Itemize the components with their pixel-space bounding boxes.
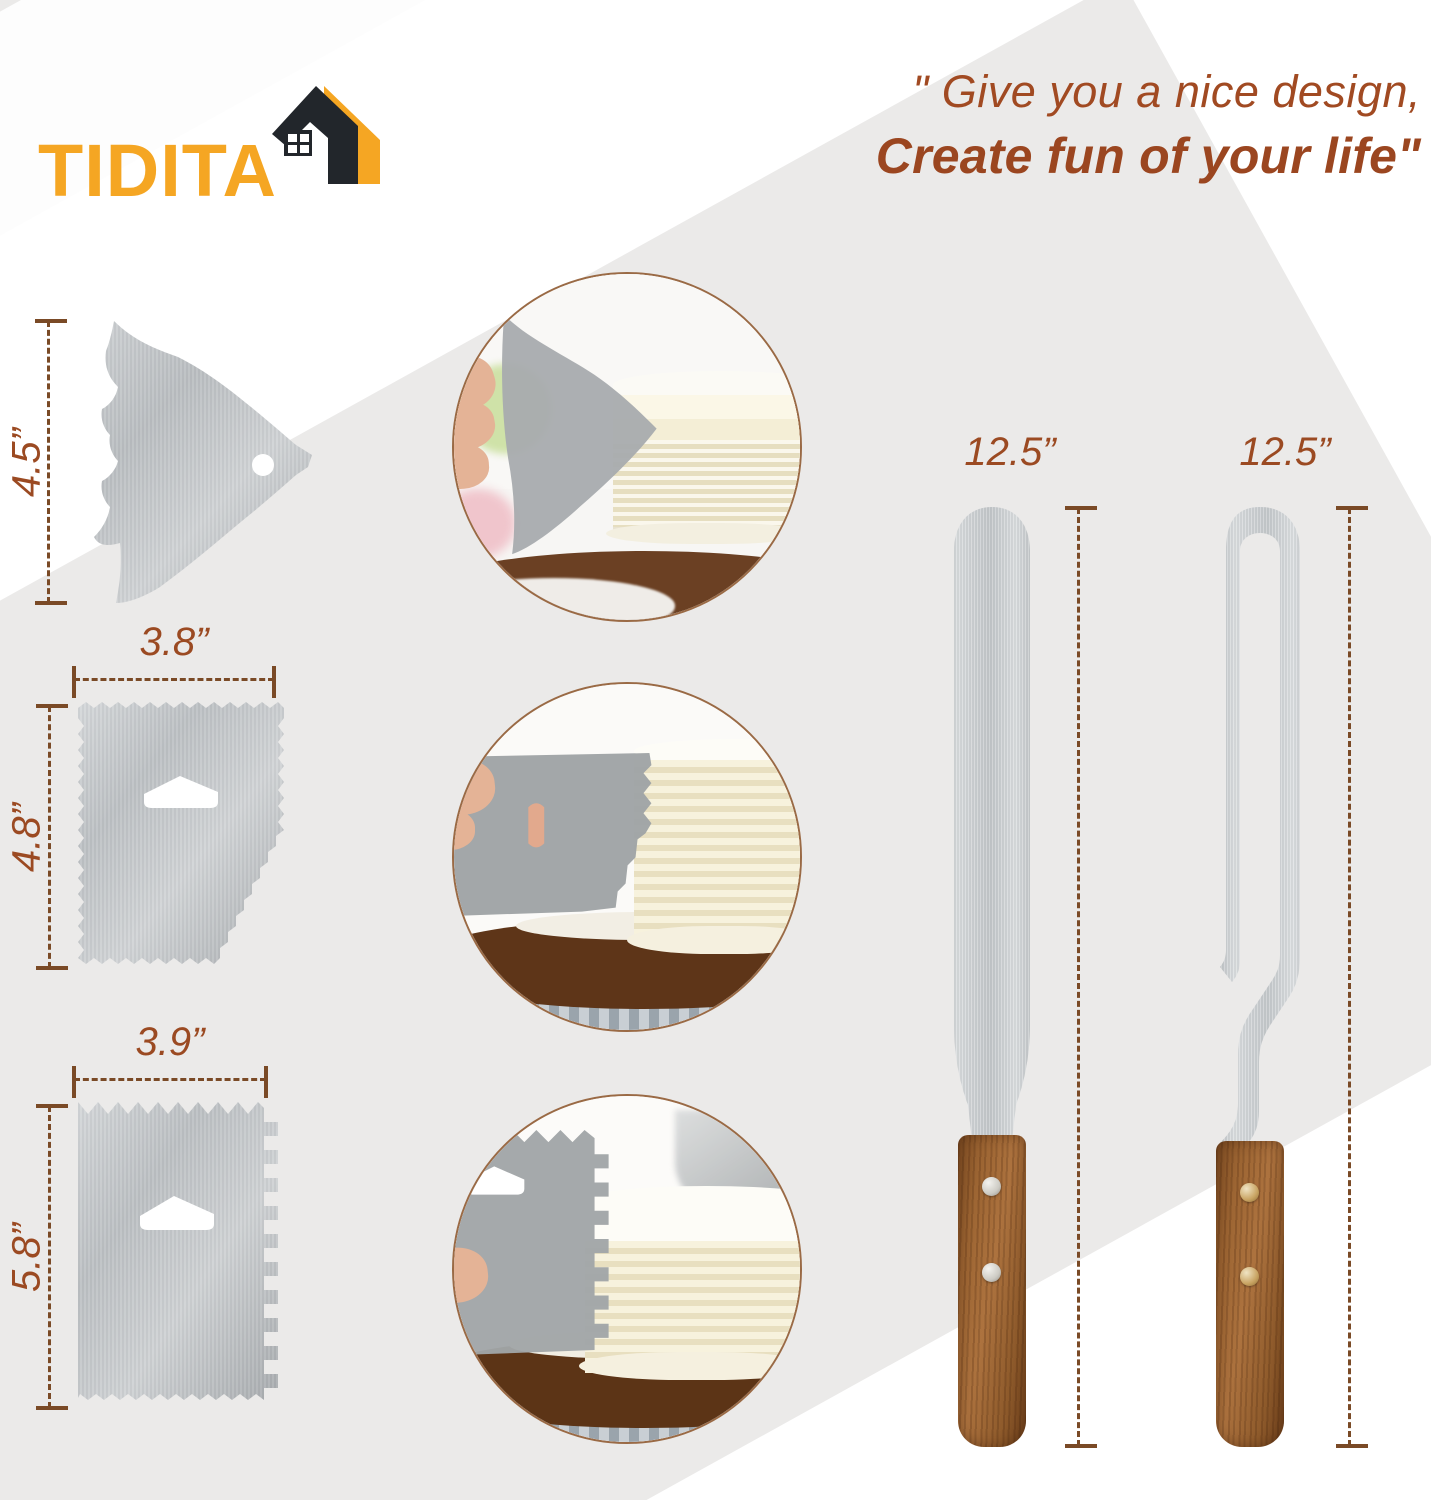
dimension-label-scraper3-width: 3.9” (70, 1020, 270, 1065)
straight-icing-spatula (938, 505, 1046, 1450)
house-roof-icon (254, 78, 384, 193)
dimension-label-scraper2-width: 3.8” (74, 620, 274, 665)
photo-scene-2 (454, 684, 800, 1030)
brand-tagline: " Give you a nice design, Create fun of … (561, 64, 1421, 186)
dimension-line-scraper3-width (74, 1078, 266, 1081)
offset-spatula-handle (1216, 1141, 1284, 1447)
stepped-serrated-scraper-icon (72, 700, 292, 972)
dimension-label-scraper1-height: 4.5” (5, 408, 50, 518)
square-tooth-scraper-icon (72, 1098, 284, 1410)
photo-scene-1 (454, 274, 800, 620)
handle-rivet-bottom (1240, 1267, 1259, 1286)
dimension-label-spatula2-length: 12.5” (1205, 430, 1365, 475)
dimension-line-spatula1-length (1077, 508, 1080, 1446)
photo-square-tooth-scraper-in-use (452, 1094, 802, 1444)
photo-scene-3 (454, 1096, 800, 1442)
product-infographic: TIDITA " Give you a nice design, Create … (0, 0, 1431, 1500)
brand-logo: TIDITA (36, 60, 366, 210)
straight-spatula-blade (938, 505, 1046, 1145)
handle-rivet-top (1240, 1183, 1259, 1202)
dimension-label-spatula1-length: 12.5” (930, 430, 1090, 475)
handle-rivet-bottom (982, 1263, 1001, 1282)
offset-spatula-blade (1212, 505, 1322, 1165)
tagline-line-1: " Give you a nice design, (561, 64, 1421, 120)
offset-icing-spatula (1212, 505, 1322, 1450)
photo-comb-scraper-in-use (452, 682, 802, 1032)
dimension-label-scraper3-height: 5.8” (5, 1203, 50, 1313)
dimension-line-spatula2-length (1348, 508, 1351, 1446)
dimension-label-scraper2-height: 4.8” (5, 783, 50, 893)
scraper-square-tooth (72, 1098, 284, 1410)
triangle-scalloped-scraper-icon (60, 315, 330, 605)
tagline-line-2: Create fun of your life" (561, 126, 1421, 186)
photo3-scraper-shape (452, 1124, 627, 1366)
handle-rivet-top (982, 1177, 1001, 1196)
scraper-stepped-comb (72, 700, 292, 972)
dimension-line-scraper2-width (74, 678, 274, 681)
brand-name: TIDITA (38, 128, 277, 213)
photo-triangle-scraper-in-use (452, 272, 802, 622)
straight-spatula-handle (958, 1135, 1026, 1447)
photo1-scraper-shape (468, 309, 669, 558)
scraper-triangle-scallop (60, 315, 330, 605)
